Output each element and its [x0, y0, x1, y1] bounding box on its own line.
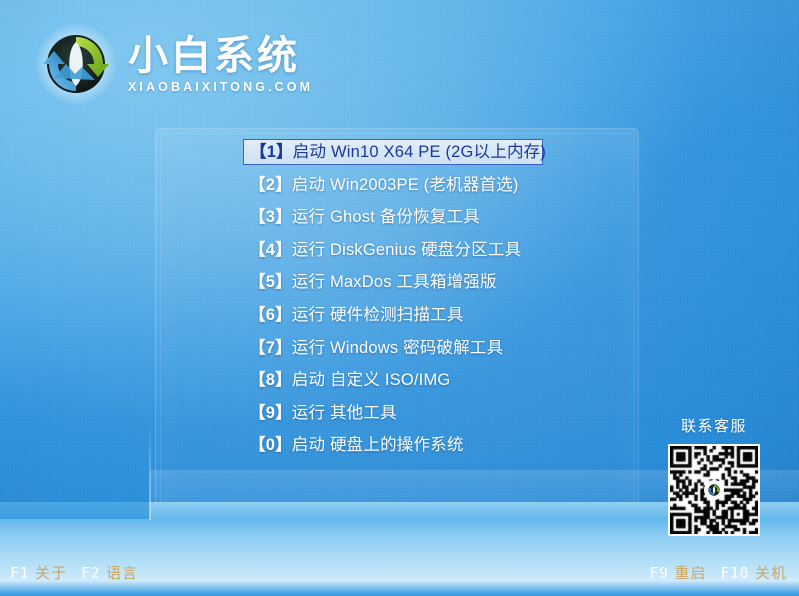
- brand-wordmark: 小白系统 XIAOBAIXITONG.COM: [128, 35, 313, 94]
- menu-item-label: 启动 硬盘上的操作系统: [292, 436, 464, 454]
- menu-item-label: 启动 Win10 X64 PE (2G以上内存): [293, 143, 546, 161]
- brand-name-cn: 小白系统: [128, 35, 313, 77]
- boot-menu-list[interactable]: 【1】启动 Win10 X64 PE (2G以上内存)【2】启动 Win2003…: [243, 139, 543, 466]
- menu-item-4[interactable]: 【4】运行 DiskGenius 硬盘分区工具: [243, 238, 543, 263]
- footer-label-f2[interactable]: 语言: [106, 565, 138, 582]
- menu-item-2[interactable]: 【2】启动 Win2003PE (老机器首选): [243, 173, 543, 198]
- menu-item-3[interactable]: 【3】运行 Ghost 备份恢复工具: [243, 205, 543, 230]
- pedestal-left-column: [0, 502, 150, 520]
- menu-item-label: 运行 DiskGenius 硬盘分区工具: [292, 241, 522, 259]
- menu-item-8[interactable]: 【8】启动 自定义 ISO/IMG: [243, 368, 543, 393]
- menu-item-10[interactable]: 【0】启动 硬盘上的操作系统: [243, 433, 543, 458]
- menu-item-1[interactable]: 【1】启动 Win10 X64 PE (2G以上内存): [243, 139, 543, 165]
- footer-left-hints: F1关于F2语言: [10, 562, 138, 583]
- footer-right-hints: F9重启F10关机: [649, 562, 787, 583]
- pedestal-vertical-edge: [149, 420, 151, 520]
- menu-item-label: 运行 其他工具: [292, 404, 397, 422]
- footer-label-f9[interactable]: 重启: [674, 565, 706, 582]
- menu-item-label: 运行 硬件检测扫描工具: [292, 306, 464, 324]
- footer-key-f2[interactable]: F2: [81, 564, 100, 582]
- footer-label-f10[interactable]: 关机: [755, 565, 787, 582]
- menu-item-label: 启动 Win2003PE (老机器首选): [292, 176, 519, 194]
- menu-item-key: 【0】: [249, 436, 292, 454]
- menu-item-key: 【4】: [249, 241, 292, 259]
- menu-item-key: 【2】: [249, 176, 292, 194]
- contact-support-block: 联系客服: [666, 415, 762, 536]
- menu-item-key: 【3】: [249, 208, 292, 226]
- footer-label-f1[interactable]: 关于: [35, 565, 67, 582]
- menu-item-6[interactable]: 【6】运行 硬件检测扫描工具: [243, 303, 543, 328]
- menu-item-key: 【1】: [250, 143, 293, 161]
- footer-key-f1[interactable]: F1: [10, 564, 29, 582]
- boot-menu-screen: 小白系统 XIAOBAIXITONG.COM 【1】启动 Win10 X64 P…: [0, 0, 799, 596]
- menu-item-7[interactable]: 【7】运行 Windows 密码破解工具: [243, 336, 543, 361]
- menu-item-key: 【5】: [249, 273, 292, 291]
- menu-item-label: 运行 Windows 密码破解工具: [292, 339, 504, 357]
- contact-support-title: 联系客服: [666, 415, 762, 436]
- footer-key-f9[interactable]: F9: [649, 564, 668, 582]
- menu-item-9[interactable]: 【9】运行 其他工具: [243, 401, 543, 426]
- menu-item-label: 启动 自定义 ISO/IMG: [292, 371, 451, 389]
- menu-item-key: 【6】: [249, 306, 292, 324]
- qr-code-icon[interactable]: [668, 444, 760, 536]
- menu-item-label: 运行 Ghost 备份恢复工具: [292, 208, 480, 226]
- footer-key-f10[interactable]: F10: [720, 564, 749, 582]
- qr-center-logo-icon: [704, 480, 724, 500]
- menu-item-key: 【9】: [249, 404, 292, 422]
- menu-item-key: 【8】: [249, 371, 292, 389]
- brand-logo: 小白系统 XIAOBAIXITONG.COM: [34, 22, 313, 106]
- menu-item-5[interactable]: 【5】运行 MaxDos 工具箱增强版: [243, 270, 543, 295]
- menu-item-key: 【7】: [249, 339, 292, 357]
- menu-item-label: 运行 MaxDos 工具箱增强版: [292, 273, 497, 291]
- recycle-arrows-logo-icon: [34, 22, 118, 106]
- brand-name-en: XIAOBAIXITONG.COM: [128, 80, 313, 94]
